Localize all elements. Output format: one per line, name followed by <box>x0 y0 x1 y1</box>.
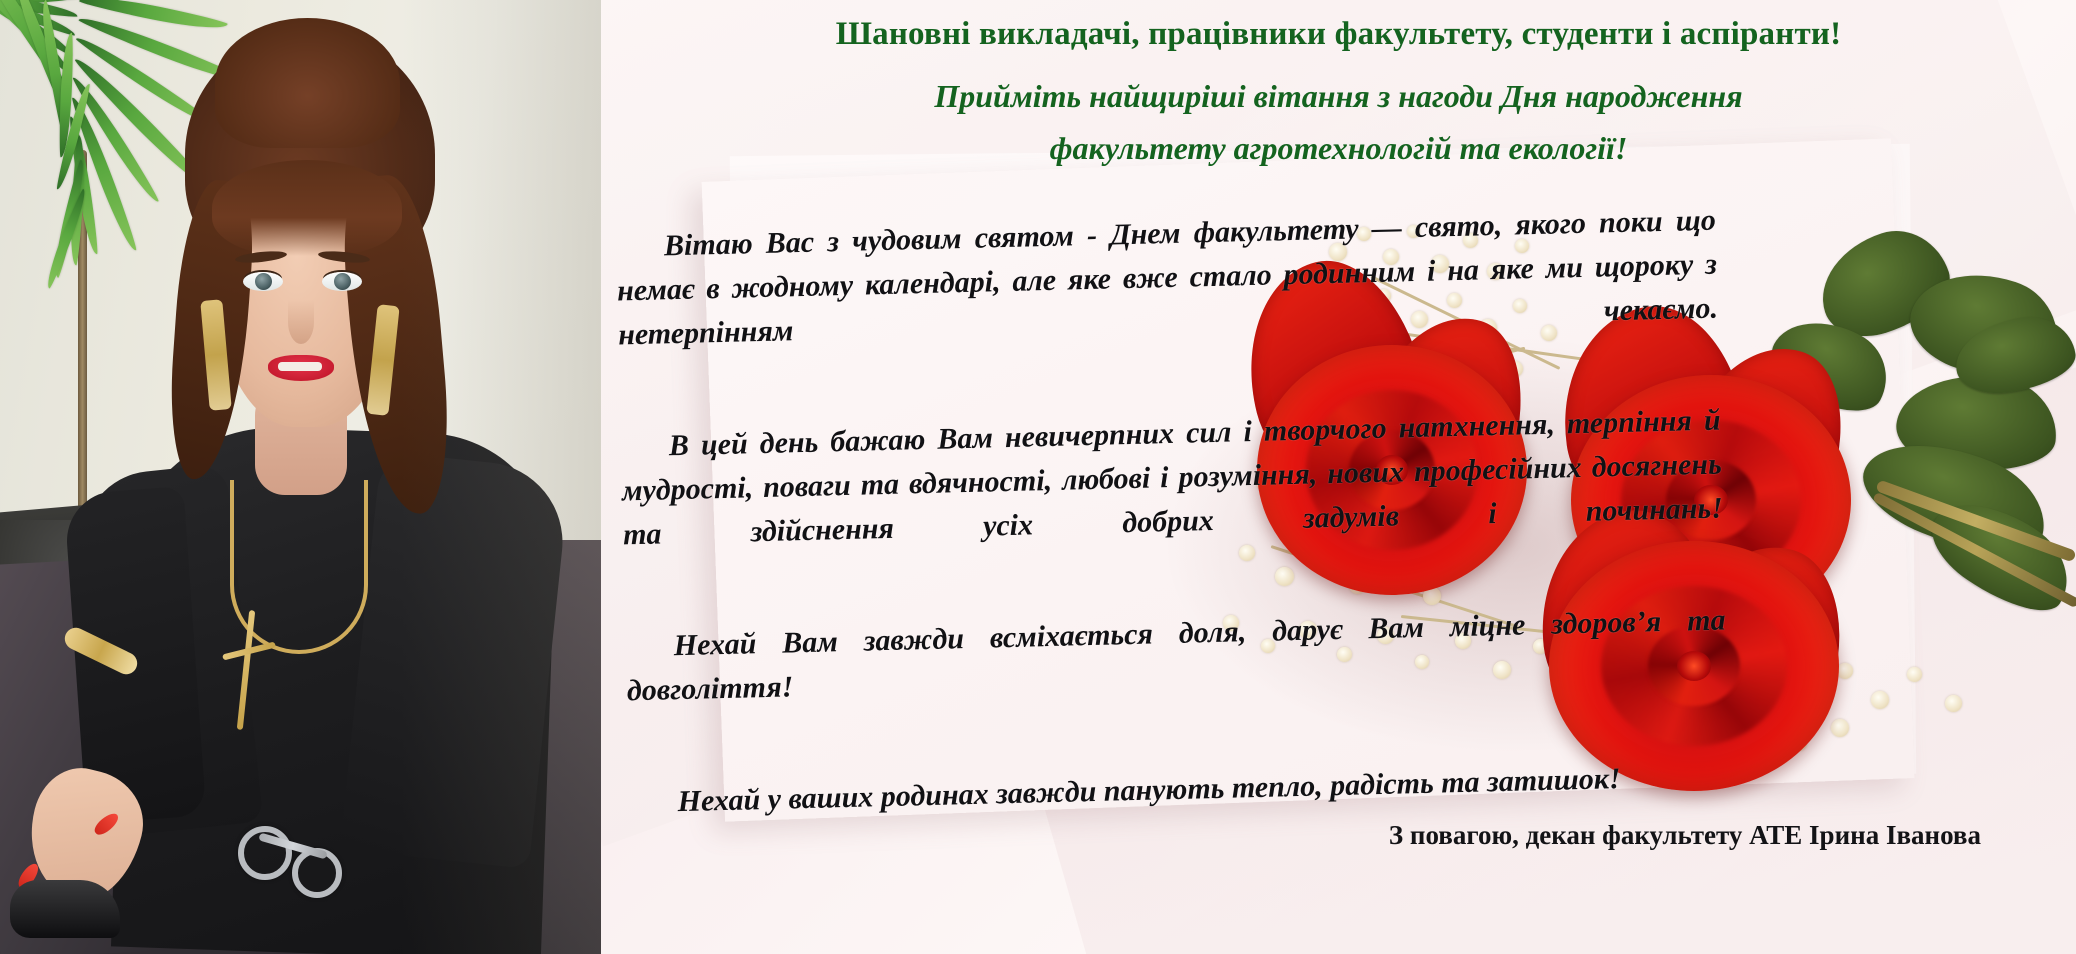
teeth <box>278 362 322 371</box>
greeting-heading: Шановні викладачі, працівники факультету… <box>601 16 2076 53</box>
greeting-text-content: Шановні викладачі, працівники факультету… <box>601 0 2076 954</box>
greeting-panel: Шановні викладачі, працівники факультету… <box>601 0 2076 954</box>
greeting-paragraph: Нехай у ваших родинах завжди панують теп… <box>629 754 1730 825</box>
greeting-card-stage: Шановні викладачі, працівники факультету… <box>0 0 2076 954</box>
nose <box>288 300 314 344</box>
greeting-paragraph: В цей день бажаю Вам невичерпних сил і т… <box>620 399 1724 602</box>
hair-bangs <box>212 160 402 256</box>
hair-bun <box>215 18 400 148</box>
greeting-paragraph: Вітаю Вас з чудовим святом - Днем факуль… <box>616 199 1720 402</box>
greeting-subheading-line-1: Прийміть найщиріші вітання з нагоди Дня … <box>601 78 2076 115</box>
greeting-signature: З повагою, декан факультету АТЕ Ірина Ів… <box>601 820 1981 851</box>
shoe <box>10 880 120 938</box>
portrait-photo <box>0 0 601 954</box>
greeting-subheading-line-2: факультету агротехнологій та екології! <box>601 130 2076 167</box>
iris-left <box>255 273 272 290</box>
photo-edge-shadow <box>401 0 601 954</box>
greeting-body: Вітаю Вас з чудовим святом - Днем факуль… <box>616 199 1731 850</box>
iris-right <box>334 273 351 290</box>
greeting-paragraph: Нехай Вам завжди всміхається доля, дарує… <box>625 599 1728 758</box>
